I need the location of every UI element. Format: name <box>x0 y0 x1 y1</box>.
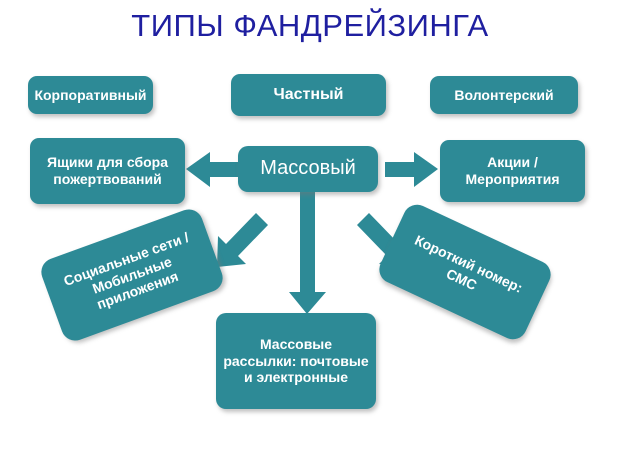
arrow-down-left-icon <box>217 213 268 267</box>
node-actions-events-label: Акции / Мероприятия <box>446 154 579 187</box>
node-mass-label: Массовый <box>260 157 356 181</box>
node-private[interactable]: Частный <box>231 74 386 116</box>
node-donation-boxes[interactable]: Ящики для сбора пожертвований <box>30 138 185 204</box>
node-volunteer-label: Волонтерский <box>454 87 553 104</box>
node-social-networks-label: Социальные сети / Мобильные приложения <box>49 225 214 326</box>
arrow-down-icon <box>289 190 326 314</box>
page-title: ТИПЫ ФАНДРЕЙЗИНГА <box>0 8 620 44</box>
node-short-number-sms-label: Короткий номер: СМС <box>391 226 539 318</box>
node-mass-mailing[interactable]: Массовые рассылки: почтовые и электронны… <box>216 313 376 409</box>
node-social-networks[interactable]: Социальные сети / Мобильные приложения <box>37 206 226 345</box>
fundraising-types-diagram: ТИПЫ ФАНДРЕЙЗИНГА Корпоративный Частный … <box>0 0 620 465</box>
node-mass[interactable]: Массовый <box>238 146 378 192</box>
node-mass-mailing-label: Массовые рассылки: почтовые и электронны… <box>222 336 370 386</box>
arrow-left-icon <box>186 152 240 187</box>
node-donation-boxes-label: Ящики для сбора пожертвований <box>36 154 179 187</box>
node-volunteer[interactable]: Волонтерский <box>430 76 578 114</box>
node-corporate[interactable]: Корпоративный <box>28 76 153 114</box>
node-private-label: Частный <box>273 86 343 105</box>
node-short-number-sms[interactable]: Короткий номер: СМС <box>375 200 556 344</box>
node-actions-events[interactable]: Акции / Мероприятия <box>440 140 585 202</box>
node-corporate-label: Корпоративный <box>34 87 146 104</box>
arrow-right-icon <box>385 152 438 187</box>
